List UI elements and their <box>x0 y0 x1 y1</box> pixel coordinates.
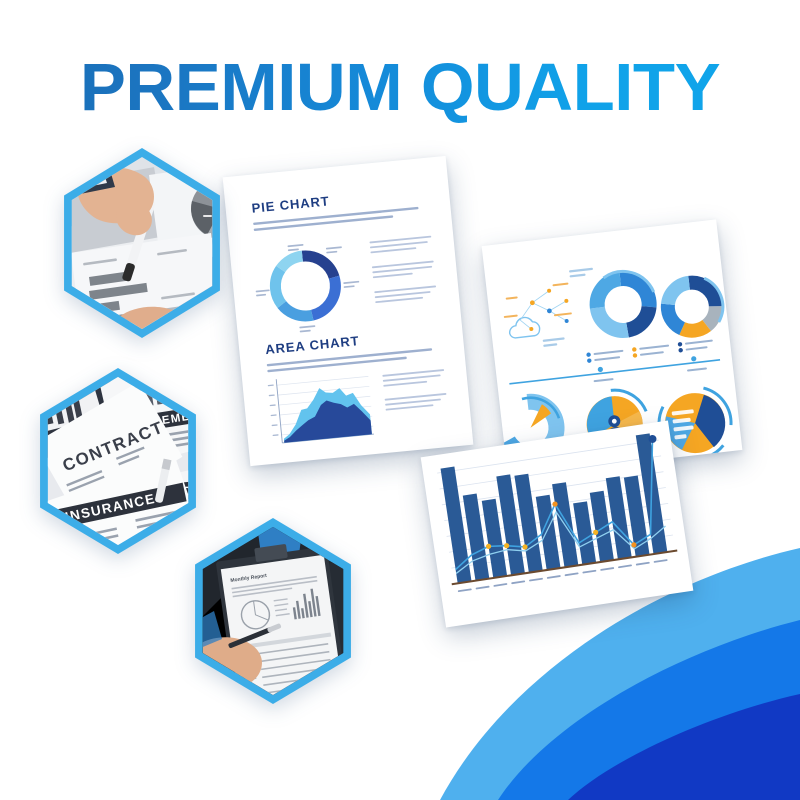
bar-chart-artwork <box>421 420 694 627</box>
poster-canvas: PREMIUM QUALITY PIE CHART <box>0 0 800 800</box>
area-chart-heading: AREA CHART <box>265 333 360 357</box>
page-title: PREMIUM QUALITY <box>0 52 800 124</box>
hexagon-contract-documents: AGREEMENT CONTRACT <box>28 368 208 554</box>
bar-category-labels <box>458 559 668 592</box>
infographic-donut-2 <box>645 260 739 354</box>
pie-chart-heading: PIE CHART <box>251 193 330 215</box>
area-side-text <box>382 369 447 411</box>
network-diagram <box>499 268 601 351</box>
bar-chart-page <box>421 420 694 627</box>
hexagon-businessman-clipboard-report: Monthly Report <box>183 518 363 704</box>
pie-side-text <box>369 236 437 303</box>
area-chart <box>267 370 374 443</box>
pie-and-area-chart-page: PIE CHART <box>223 156 474 466</box>
pie-area-artwork: PIE CHART <box>223 156 474 466</box>
timeline-divider <box>509 360 720 384</box>
cloud-icon <box>508 316 540 339</box>
donut-chart <box>273 253 338 318</box>
hexagon-hands-analyzing-charts <box>52 148 232 338</box>
